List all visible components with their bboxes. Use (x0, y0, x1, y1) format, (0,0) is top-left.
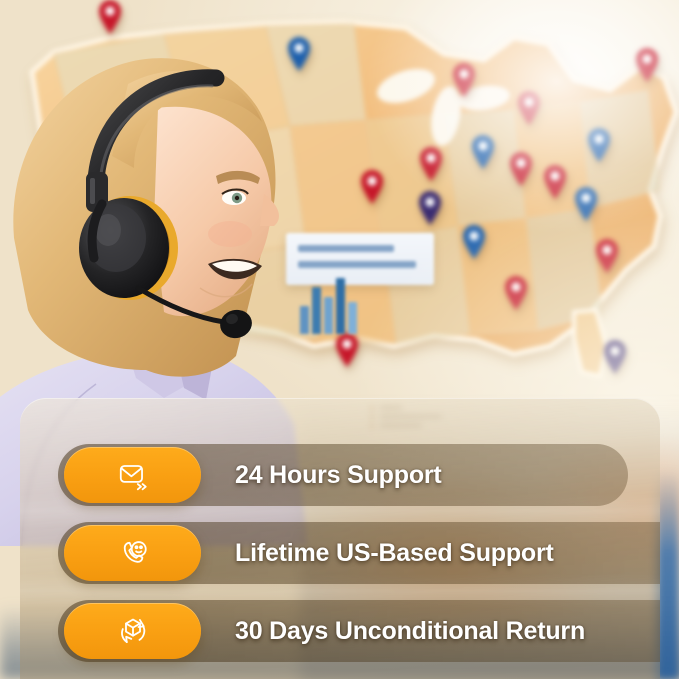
package-return-icon-pill[interactable] (64, 603, 201, 659)
feature-label: 24 Hours Support (235, 461, 442, 490)
feature-list: 24 Hours Support Lif (20, 398, 660, 679)
right-blue-edge (657, 469, 679, 679)
features-glass-panel: 24 Hours Support Lif (20, 398, 660, 679)
phone-smile-icon-pill[interactable] (64, 525, 201, 581)
package-return-icon (116, 614, 150, 648)
feature-row-24-hours-support[interactable]: 24 Hours Support (20, 444, 442, 506)
phone-smile-icon (116, 536, 150, 570)
feature-label: 30 Days Unconditional Return (235, 617, 585, 646)
feature-row-30-days-unconditional-return[interactable]: 30 Days Unconditional Return (20, 600, 585, 662)
mail-send-icon (116, 458, 150, 492)
product-feature-banner: 24 Hours Support Lif (0, 0, 679, 679)
mail-send-icon-pill[interactable] (64, 447, 201, 503)
feature-label: Lifetime US-Based Support (235, 539, 554, 568)
feature-row-lifetime-us-based-support[interactable]: Lifetime US-Based Support (20, 522, 554, 584)
